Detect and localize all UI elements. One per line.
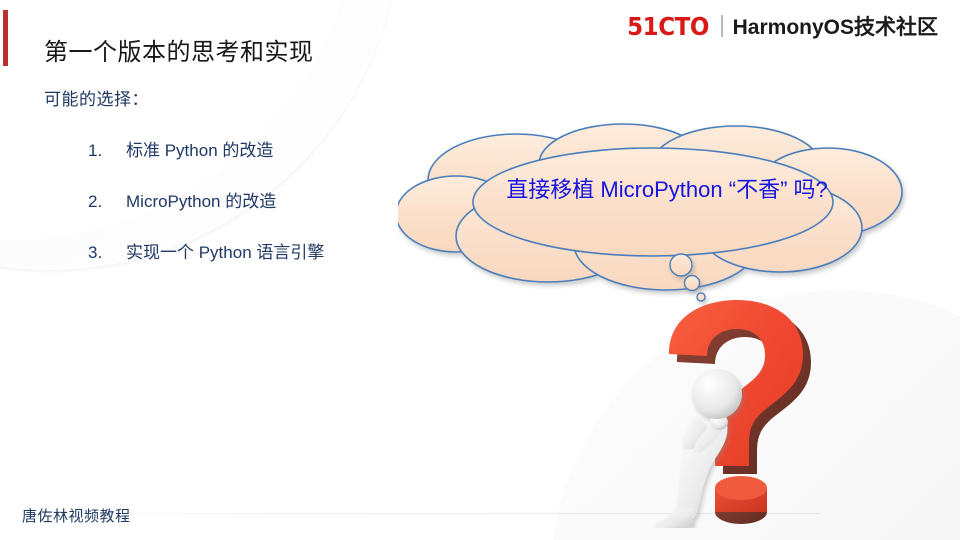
- question-mark-illustration: [645, 298, 845, 528]
- list-item-number: 3.: [88, 243, 126, 263]
- brand-logo: 51CTO HarmonyOS技术社区: [620, 11, 938, 41]
- options-list: 1. 标准 Python 的改造 2. MicroPython 的改造 3. 实…: [88, 136, 428, 289]
- list-item-label: 实现一个 Python 语言引擎: [126, 238, 324, 263]
- brand-divider: [721, 15, 723, 37]
- thought-bubble: 直接移植 MicroPython “不香” 吗?: [398, 118, 918, 308]
- question-mark-figure-graphic: [645, 298, 845, 528]
- title-accent-bar: [3, 10, 8, 66]
- brand-51cto-text: 51CTO: [627, 12, 709, 41]
- footer-text: 唐佐林视频教程: [22, 505, 131, 526]
- brand-community-name: HarmonyOS技术社区: [733, 11, 938, 41]
- page-subtitle: 可能的选择：: [44, 85, 149, 110]
- list-item: 3. 实现一个 Python 语言引擎: [88, 238, 428, 263]
- list-item-label: MicroPython 的改造: [126, 187, 276, 212]
- list-item-number: 1.: [88, 141, 126, 161]
- list-item-number: 2.: [88, 192, 126, 212]
- page-title: 第一个版本的思考和实现: [44, 32, 314, 67]
- list-item: 2. MicroPython 的改造: [88, 187, 428, 212]
- thought-bubble-shape: [398, 118, 918, 308]
- list-item-label: 标准 Python 的改造: [126, 136, 273, 161]
- slide-canvas: 51CTO HarmonyOS技术社区 第一个版本的思考和实现 可能的选择： 1…: [0, 0, 960, 540]
- list-item: 1. 标准 Python 的改造: [88, 136, 428, 161]
